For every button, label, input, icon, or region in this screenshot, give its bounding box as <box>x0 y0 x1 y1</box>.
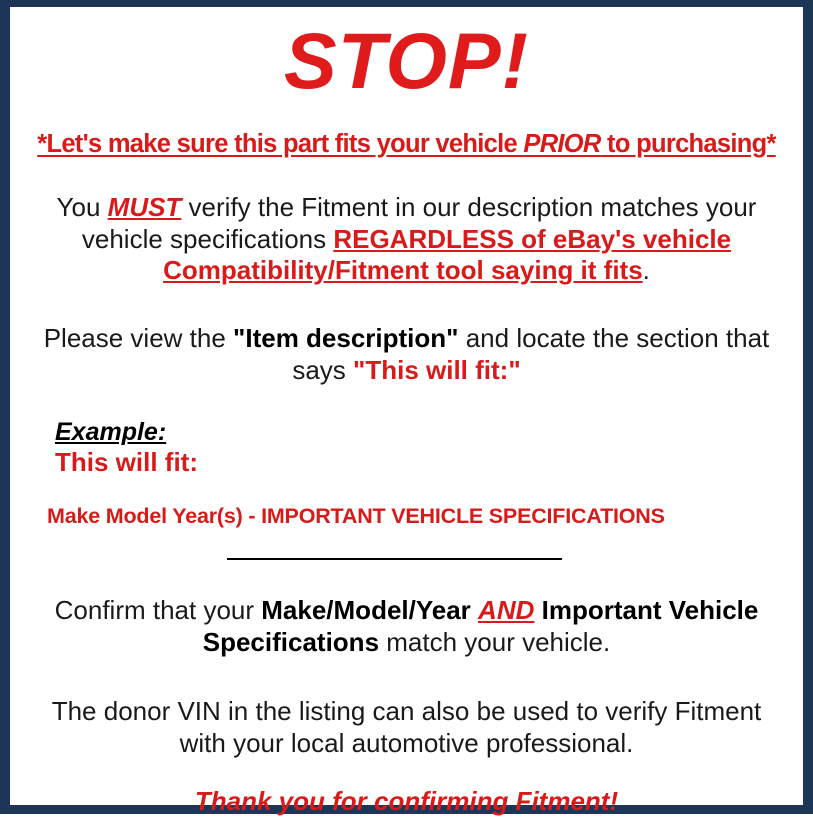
emphasis-must: MUST <box>108 192 182 222</box>
confirm-space-1 <box>471 595 478 625</box>
horizontal-divider <box>227 558 562 560</box>
example-block: Example: This will fit: Make Model Year(… <box>18 419 795 529</box>
divider-container <box>18 558 795 561</box>
emphasis-this-will-fit: "This will fit:" <box>353 355 521 385</box>
fitment-notice-banner: STOP! *Let's make sure this part fits yo… <box>0 0 813 814</box>
confirm-space-2 <box>534 595 541 625</box>
confirm-paragraph-part1: Confirm that your <box>55 595 262 625</box>
page-title: STOP! <box>18 21 795 100</box>
example-label: Example: <box>55 419 795 447</box>
confirm-paragraph: Confirm that your Make/Model/Year AND Im… <box>18 595 795 658</box>
emphasis-and: AND <box>478 595 534 625</box>
tagline-trail: to purchasing* <box>601 130 776 158</box>
example-fit-header: This will fit: <box>55 448 795 478</box>
tagline-lead: *Let's make sure this part fits your veh… <box>37 130 523 158</box>
emphasis-make-model-year: Make/Model/Year <box>261 595 471 625</box>
donor-vin-paragraph: The donor VIN in the listing can also be… <box>18 696 795 759</box>
must-paragraph-part3: . <box>643 255 650 285</box>
example-spec-line: Make Model Year(s) - IMPORTANT VEHICLE S… <box>47 504 795 529</box>
emphasis-item-description: "Item description" <box>233 323 458 353</box>
notice-content: STOP! *Let's make sure this part fits yo… <box>10 21 803 819</box>
view-description-paragraph: Please view the "Item description" and l… <box>18 323 795 386</box>
tagline: *Let's make sure this part fits your veh… <box>18 130 795 158</box>
confirm-paragraph-part2: match your vehicle. <box>379 627 610 657</box>
must-verify-paragraph: You MUST verify the Fitment in our descr… <box>18 192 795 287</box>
view-paragraph-part1: Please view the <box>44 323 233 353</box>
must-paragraph-part1: You <box>57 192 108 222</box>
thank-you-message: Thank you for confirming Fitment! <box>18 787 795 817</box>
tagline-emphasis-prior: PRIOR <box>523 130 600 158</box>
